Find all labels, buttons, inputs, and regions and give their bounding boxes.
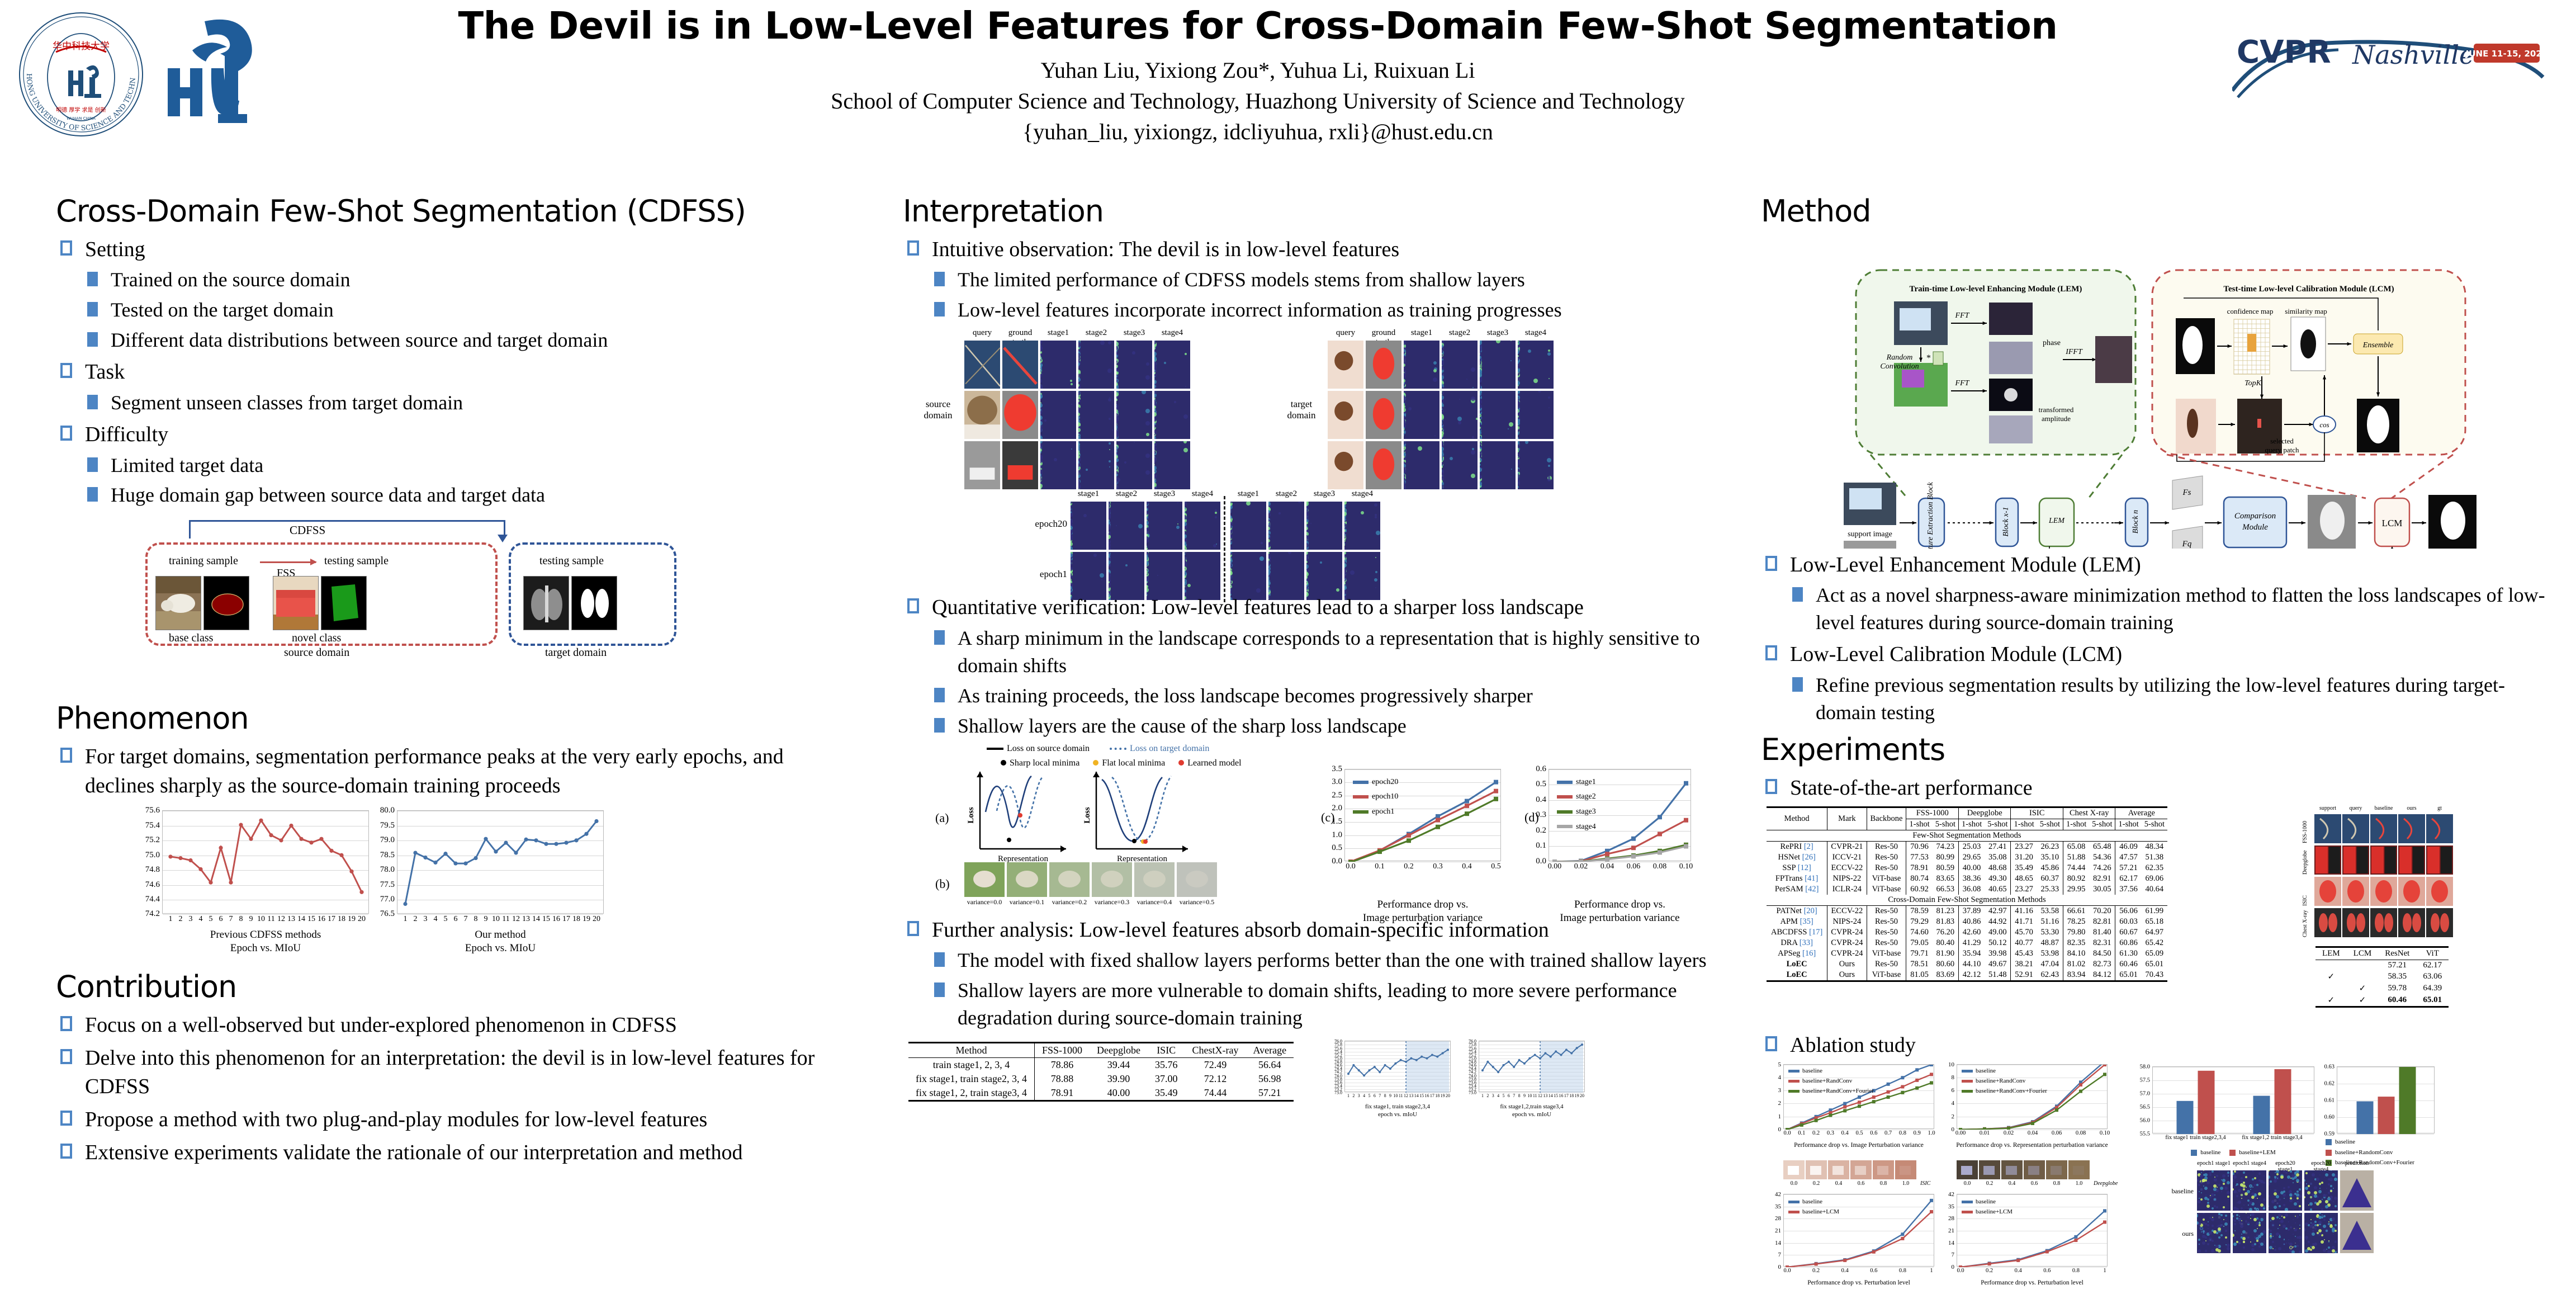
feature-map-column-label: stage1 <box>1040 328 1076 338</box>
y-axis-tick-label: 75.0 <box>145 851 160 860</box>
x-axis-tick-label: 12 <box>277 915 285 924</box>
table-column-header: 1-shot <box>2115 819 2142 830</box>
y-axis-tick-label: 14 <box>1948 1239 1954 1246</box>
legend-entry: baseline+RandConv+Fourier <box>1962 1086 2047 1096</box>
qualitative-row-label: ISIC <box>2302 877 2308 906</box>
y-axis-tick-label: 0 <box>1778 1126 1782 1133</box>
chart-caption: Our methodEpoch vs. MIoU <box>397 928 604 955</box>
legend-label: baseline+RandConv+Fourier <box>1976 1088 2047 1094</box>
interpretation-bullets-1: Intuitive observation: The devil is in l… <box>906 235 1716 324</box>
square-bullet-icon <box>907 598 919 613</box>
x-axis-tick-label: 13 <box>1543 1093 1547 1098</box>
legend-label: baseline+RandConv <box>1976 1078 2025 1084</box>
y-axis-tick-label: 56.5 <box>2140 1104 2150 1110</box>
ensemble-label: Ensemble <box>2362 341 2393 349</box>
table-cell-value: 23.27 <box>2011 884 2037 895</box>
y-axis-tick-label: 3.5 <box>1332 764 1342 774</box>
series-line <box>1479 1041 1585 1093</box>
table-cell-mark: NIPS-22 <box>1827 873 1867 884</box>
plot-area: 0.00.51.01.52.02.53.03.50.00.10.20.30.40… <box>1344 769 1501 861</box>
cdfss-bullet-list: Setting Trained on the source domain Tes… <box>59 235 850 509</box>
x-axis-tick-label: 0.4 <box>1841 1268 1849 1274</box>
y-axis-tick-label: 0.3 <box>1536 810 1546 820</box>
feature-map-stage1 <box>1404 391 1439 439</box>
plot-area: 0714212835420.00.20.40.60.81baselinebase… <box>1783 1194 1934 1267</box>
feature-map-stage3 <box>1480 341 1516 389</box>
x-axis-tick-label: 12 <box>512 915 520 924</box>
table-cell-value: 61.99 <box>2142 906 2167 917</box>
block-n-label: Block n <box>2132 510 2140 533</box>
y-axis-tick-label: 0.62 <box>2324 1080 2334 1087</box>
affiliation-line: School of Computer Science and Technolog… <box>425 87 2091 115</box>
feature-map-column-label: stage1 <box>1230 489 1266 499</box>
feature-map-stage2 <box>1078 441 1114 489</box>
lcm-panel-title: Test-time Low-level Calibration Module (… <box>2223 285 2394 294</box>
legend-label: stage1 <box>1576 778 1596 786</box>
cdfss-arrow-icon <box>498 535 508 542</box>
chart-previous-cdfss: 74.274.474.674.875.075.275.475.612345678… <box>162 810 369 955</box>
legend-label: baseline+RandomConv <box>2335 1149 2393 1156</box>
table-column-header: Method <box>1767 807 1827 830</box>
bullet-label: Further analysis: Low-level features abs… <box>932 918 1549 942</box>
table-cell: 40.00 <box>1090 1086 1148 1101</box>
table-row: LoECOursViT-base81.0583.6942.1251.4852.9… <box>1767 970 2167 981</box>
feature-map-column-label: query <box>964 328 1000 338</box>
list-item: A sharp minimum in the landscape corresp… <box>932 625 1716 679</box>
base-class-label: base class <box>169 632 213 645</box>
chart-our-method: 76.577.077.578.078.579.079.580.012345678… <box>397 810 604 955</box>
lcm-block-label: LCM <box>2382 518 2403 528</box>
x-axis-tick-label: 0.06 <box>2052 1130 2062 1136</box>
table-cell-backbone: ViT-base <box>1867 884 1906 895</box>
y-axis-tick-label: 5 <box>1778 1061 1782 1068</box>
table-cell-value: 40.00 <box>1958 863 1985 873</box>
list-item: Refine previous segmentation results by … <box>1790 672 2555 726</box>
qualitative-result-image <box>2398 877 2425 906</box>
filled-square-bullet-icon <box>934 630 945 645</box>
y-axis-tick-label: 80.0 <box>380 806 395 816</box>
y-axis-tick-label: 56.0 <box>2140 1117 2150 1123</box>
x-axis-tick-label: 0.6 <box>1870 1268 1877 1274</box>
chart-caption-line: Previous CDFSS methods <box>162 928 369 942</box>
legend-marker-icon <box>1353 810 1368 814</box>
y-axis-tick-label: 74.8 <box>145 865 160 875</box>
filled-square-bullet-icon <box>934 302 945 317</box>
x-axis-tick-label: 2 <box>179 915 183 924</box>
perturbed-image-2 <box>1049 862 1090 897</box>
feature-map-stage2 <box>1078 341 1114 389</box>
qualitative-column-label: query <box>2342 805 2369 811</box>
y-axis-tick-label: 35 <box>1948 1203 1954 1210</box>
bullet-label: Setting <box>85 238 145 261</box>
x-axis-tick-label: 0.4 <box>1841 1130 1849 1136</box>
phenomenon-bullet-list: For target domains, segmentation perform… <box>59 743 850 800</box>
table-cell-value: 65.48 <box>2089 842 2115 853</box>
table-cell-method: PATNet [20] <box>1767 906 1827 917</box>
feature-map-stage2 <box>1442 441 1478 489</box>
table-cell-value: 81.90 <box>1933 948 1959 959</box>
plot-area: 73.073.273.473.673.874.074.274.474.674.8… <box>1344 1041 1451 1092</box>
table-cell-value: 82.35 <box>2063 938 2089 948</box>
table-cell-value: 60.46 <box>2115 959 2142 970</box>
table-cell-vit: 65.01 <box>2416 994 2449 1007</box>
x-axis-tick-label: 7 <box>464 915 468 924</box>
list-item: For target domains, segmentation perform… <box>59 743 850 800</box>
table-cell: 78.88 <box>1034 1072 1090 1086</box>
sota-results-table: MethodMarkBackboneFSS-1000DeepglobeISICC… <box>1767 806 2167 982</box>
table-cell-mark: CVPR-24 <box>1827 938 1867 948</box>
ablation-feature-map <box>2340 1170 2374 1211</box>
table-cell-method: LoEC <box>1767 959 1827 970</box>
filled-square-bullet-icon <box>87 272 98 286</box>
legend-marker-icon <box>1557 781 1573 784</box>
perturbation-level-label: 0.4 <box>1828 1180 1849 1187</box>
table-row: ✓59.7864.39 <box>2315 982 2449 994</box>
legend-marker-icon <box>1788 1211 1800 1213</box>
table-cell-value: 82.91 <box>2089 873 2115 884</box>
qualitative-result-image <box>2370 814 2397 843</box>
ground-truth-image <box>1002 341 1038 389</box>
bars <box>2337 1067 2435 1134</box>
y-axis-tick-label: 76.0 <box>1334 1039 1342 1044</box>
table-cell-value: 47.57 <box>2115 852 2142 863</box>
testing-sample-source-label: testing sample <box>324 555 389 568</box>
filled-square-bullet-icon <box>934 952 945 967</box>
feature-map-stage3 <box>1116 391 1152 439</box>
qualitative-result-image <box>2370 845 2397 875</box>
feature-map-column-label: stage3 <box>1306 489 1342 499</box>
list-item: Focus on a well-observed but under-explo… <box>59 1011 850 1040</box>
list-item: Task Segment unseen classes from target … <box>59 358 850 417</box>
table-cell-value: 39.98 <box>1985 948 2011 959</box>
table-cell-value: 60.67 <box>2115 927 2142 938</box>
table-cell-method: RePRI [2] <box>1767 842 1827 853</box>
bullet-label: Limited target data <box>111 454 263 476</box>
legend-label: baseline+LCM <box>1976 1208 2012 1215</box>
table-cell: 78.91 <box>1034 1086 1090 1101</box>
feature-map-visualization: queryground truthstage1stage2stage3stage… <box>903 328 1716 591</box>
perturbed-sample-image <box>1957 1160 1978 1179</box>
table-cell-value: 51.48 <box>1985 970 2011 981</box>
table-cell-value: 62.35 <box>2142 863 2167 873</box>
x-axis-tick-label: 17 <box>1430 1093 1434 1098</box>
legend-marker-icon <box>1962 1070 1973 1073</box>
list-item: Intuitive observation: The devil is in l… <box>906 235 1716 324</box>
table-cell-value: 66.53 <box>1933 884 1959 895</box>
ifft-label: IFFT <box>2065 348 2083 356</box>
x-axis-tick-label: 14 <box>297 915 305 924</box>
chart-lem-bar: 55.556.056.557.057.558.0fix stage1 train… <box>2152 1066 2314 1133</box>
square-bullet-icon <box>60 748 72 763</box>
chart-caption: fix stage1, train stage2,3,4epoch vs. mI… <box>1344 1103 1451 1119</box>
filled-square-bullet-icon <box>934 982 945 997</box>
perturbed-image-4 <box>1134 862 1175 897</box>
legend-marker-icon <box>1557 810 1573 814</box>
x-axis-tick-label: 16 <box>1425 1093 1429 1098</box>
table-cell-value: 30.05 <box>2089 884 2115 895</box>
y-axis-tick-label: 0.60 <box>2324 1114 2334 1120</box>
y-axis-tick-label: 57.0 <box>2140 1090 2150 1097</box>
x-axis-tick-label: 14 <box>1414 1093 1419 1098</box>
gridline <box>1345 862 1500 862</box>
gridline <box>2337 1134 2434 1135</box>
table-cell-value: 40.77 <box>2011 938 2037 948</box>
list-item: Further analysis: Low-level features abs… <box>906 916 1716 1032</box>
table-cell-value: 40.65 <box>1985 884 2011 895</box>
table-cell-lem-check: ✓ <box>2315 971 2347 982</box>
table-cell-value: 25.33 <box>2037 884 2063 895</box>
chart-legend: baselinebaseline+LCM <box>1788 1197 1839 1217</box>
table-cell-value: 65.01 <box>2115 970 2142 981</box>
legend-label: baseline+RandConv+Fourier <box>1802 1088 1874 1094</box>
table-cell-value: 70.96 <box>1906 842 1933 853</box>
y-axis-tick-label: 0.5 <box>1536 780 1546 789</box>
y-axis-tick-label: 4 <box>1952 1100 1955 1107</box>
table-cell-value: 84.10 <box>2063 948 2089 959</box>
table-cell: 56.98 <box>1246 1072 1294 1086</box>
x-axis-tick-label: 11 <box>502 915 509 924</box>
table-cell: fix stage1, 2, train stage3, 4 <box>908 1086 1034 1101</box>
table-cell-method: FPTrans [41] <box>1767 873 1827 884</box>
y-axis-tick-label: 76.5 <box>380 910 395 919</box>
table-cell-value: 56.06 <box>2115 906 2142 917</box>
ablation-study-area: 0123450.00.10.20.30.40.50.60.70.80.91.0b… <box>1761 1064 2555 1299</box>
list-item: The model with fixed shallow layers perf… <box>932 947 1716 974</box>
y-axis-tick-label: 0.0 <box>1332 857 1342 866</box>
table-cell-value: 35.08 <box>1985 852 2011 863</box>
reference-number: [35] <box>1800 917 1813 926</box>
list-item: As training proceeds, the loss landscape… <box>932 682 1716 710</box>
plot-area: 0123450.00.10.20.30.40.50.60.70.80.91.0b… <box>1783 1064 1934 1129</box>
perturbed-sample-image <box>1783 1160 1805 1179</box>
square-bullet-icon <box>60 1144 72 1159</box>
filled-square-bullet-icon <box>1792 677 1803 692</box>
table-cell-value: 60.92 <box>1906 884 1933 895</box>
qualitative-row-label: FSS-1000 <box>2302 814 2308 843</box>
feature-map-stage3 <box>1116 341 1152 389</box>
perturbation-variance-label: variance=0.4 <box>1134 898 1175 906</box>
legend-marker-icon <box>1557 825 1573 828</box>
list-item: Delve into this phenomenon for an interp… <box>59 1044 850 1102</box>
y-axis-tick-label: 3 <box>1778 1087 1782 1094</box>
table-column-header: Mark <box>1827 807 1867 830</box>
legend-entry: stage4 <box>1557 820 1596 835</box>
table-cell-value: 51.38 <box>2142 852 2167 863</box>
plot-area: 73.073.273.473.673.874.074.274.474.674.8… <box>1479 1041 1585 1092</box>
qualitative-result-image <box>2398 845 2425 875</box>
filled-square-bullet-icon <box>87 302 98 317</box>
bars <box>2153 1067 2315 1134</box>
table-cell-method: ABCDFSS [17] <box>1767 927 1827 938</box>
table-cell-value: 48.68 <box>1985 863 2011 873</box>
x-axis-tick-label: 7 <box>229 915 233 924</box>
y-axis-tick-label: 78.5 <box>380 851 395 860</box>
x-axis-tick-label: 0.8 <box>1899 1130 1906 1136</box>
table-cell-value: 60.03 <box>2115 917 2142 927</box>
square-bullet-icon <box>1765 779 1777 794</box>
table-cell-value: 48.87 <box>2037 938 2063 948</box>
y-axis-tick-label: 4 <box>1778 1074 1782 1081</box>
qualitative-result-image <box>2426 814 2453 843</box>
list-item: Limited target data <box>85 452 850 479</box>
y-axis-tick-label: 0.4 <box>1536 795 1546 805</box>
table-column-header: 1-shot <box>2063 819 2089 830</box>
gridline <box>1549 862 1690 862</box>
list-item: Low-Level Calibration Module (LCM) Refin… <box>1764 640 2555 726</box>
square-bullet-icon <box>1765 645 1777 660</box>
flat-minima-dot-icon <box>1093 760 1098 766</box>
table-group-header: Deepglobe <box>1958 807 2011 819</box>
ablation-feature-map <box>2340 1213 2374 1253</box>
bullet-label: Segment unseen classes from target domai… <box>111 391 463 414</box>
square-bullet-icon <box>60 1016 72 1031</box>
ablation-feature-map <box>2233 1213 2266 1253</box>
y-axis-tick-label: 21 <box>1775 1227 1781 1234</box>
x-axis-tick-label: 0.9 <box>1914 1130 1921 1136</box>
arrow-icon <box>2114 521 2123 525</box>
table-row: PATNet [20]ECCV-22Res-5078.5981.2337.894… <box>1767 906 2167 917</box>
table-cell-value: 44.10 <box>1958 959 1985 970</box>
feature-map-stage2 <box>1078 391 1114 439</box>
stage-fix-results: MethodFSS-1000DeepglobeISICChestX-rayAve… <box>903 1037 1716 1121</box>
table-row: DRA [33]CVPR-24Res-5079.0580.4041.2950.1… <box>1767 938 2167 948</box>
table-cell-value: 27.41 <box>1985 842 2011 853</box>
x-axis-tick-label: 4 <box>1363 1093 1365 1098</box>
table-cell-backbone: Res-50 <box>1867 938 1906 948</box>
legend-entry: baseline+LCM <box>1788 1207 1839 1217</box>
plot-area: 02468100.000.010.020.040.060.080.10basel… <box>1957 1064 2108 1129</box>
cvpr-text: CVPR <box>2237 34 2331 70</box>
table-cell-value: 51.88 <box>2063 852 2089 863</box>
table-cell-value: 53.58 <box>2037 906 2063 917</box>
table-cell-method: PerSAM [42] <box>1767 884 1827 895</box>
chart-caption: Performance drop vs. Image Perturbation … <box>1775 1141 1942 1149</box>
table-cell-value: 81.23 <box>1933 906 1959 917</box>
series-line <box>397 811 604 914</box>
table-cell-value: 44.92 <box>1985 917 2011 927</box>
x-axis-tick-label: 5 <box>1502 1093 1504 1098</box>
table-cell-value: 36.08 <box>1958 884 1985 895</box>
query-patch-label: query patch <box>2265 446 2299 454</box>
table-cell-value: 70.20 <box>2089 906 2115 917</box>
x-axis-tick-label: 1 <box>169 915 173 924</box>
y-axis-tick-label: 79.0 <box>380 835 395 845</box>
list-item: Trained on the source domain <box>85 266 850 294</box>
table-column-header: ResNet <box>2378 947 2416 960</box>
table-cell-mark: ECCV-22 <box>1827 863 1867 873</box>
table-cell-mark: NIPS-24 <box>1827 917 1867 927</box>
table-cell-value: 49.00 <box>1985 927 2011 938</box>
x-axis-tick-label: 0.08 <box>1653 862 1667 871</box>
ground-truth-image <box>1002 441 1038 489</box>
feature-map-column-label: stage1 <box>1071 489 1106 499</box>
table-column-header: 5-shot <box>2142 819 2167 830</box>
y-axis-tick-label: 58.0 <box>2140 1064 2150 1070</box>
table-cell-value: 79.29 <box>1906 917 1933 927</box>
amplitude-label: amplitude <box>2042 414 2071 423</box>
section-title-cdfss: Cross-Domain Few-Shot Segmentation (CDFS… <box>56 196 850 228</box>
dataset-name-label: Deepglobe <box>2094 1180 2118 1187</box>
table-cell-value: 84.12 <box>2089 970 2115 981</box>
legend-label: baseline <box>1976 1198 1996 1205</box>
list-item: State-of-the-art performance <box>1764 774 2555 803</box>
legend-swatch-icon <box>2326 1139 2332 1145</box>
x-axis-tick-label: 8 <box>239 915 243 924</box>
fft-label: FFT <box>1955 311 1970 320</box>
perturbation-level-label: 0.2 <box>1979 1180 2000 1187</box>
x-axis-tick-label: 15 <box>542 915 550 924</box>
table-cell-value: 70.43 <box>2142 970 2167 981</box>
ablation-feature-map <box>2233 1170 2266 1211</box>
reference-number: [20] <box>1804 906 1817 915</box>
legend-marker-icon <box>1962 1211 1973 1213</box>
table-cell-value: 76.20 <box>1933 927 1959 938</box>
feature-map-stage3 <box>1116 441 1152 489</box>
x-axis-tick-label: 1 <box>1481 1093 1484 1098</box>
section-title-contribution: Contribution <box>56 971 850 1003</box>
list-item: Shallow layers are the cause of the shar… <box>932 712 1716 740</box>
filled-square-bullet-icon <box>87 487 98 502</box>
x-axis-tick-label: 0.2 <box>1986 1268 1993 1274</box>
chart-caption-line: Epoch vs. MIoU <box>397 942 604 955</box>
table-section-header: Cross-Domain Few-Shot Segmentation Metho… <box>1767 895 2167 906</box>
feature-map-column-label: stage4 <box>1185 489 1220 499</box>
y-axis-tick-label: 2 <box>1778 1100 1782 1107</box>
y-axis-tick-label: 2.0 <box>1332 804 1342 814</box>
x-axis-tick-label: 0.06 <box>1627 862 1641 871</box>
perturbed-sample-image <box>1895 1160 1916 1179</box>
bullet-label: Ablation study <box>1790 1033 1916 1057</box>
confidence-map-label: confidence map <box>2227 307 2274 315</box>
bullet-label: Huge domain gap between source data and … <box>111 484 545 506</box>
bullet-label: The model with fixed shallow layers perf… <box>958 949 1707 971</box>
table-group-header: Chest X-ray <box>2063 807 2115 819</box>
square-bullet-icon <box>1765 1036 1777 1051</box>
y-axis-tick-label: 77.0 <box>380 895 395 904</box>
target-domain-label: target domain <box>545 646 607 659</box>
qualitative-result-image <box>2370 908 2397 937</box>
table-cell-value: 57.21 <box>2115 863 2142 873</box>
table-cell-value: 40.64 <box>2142 884 2167 895</box>
x-axis-tick-label: 3 <box>424 915 428 924</box>
y-axis-tick-label: 0.0 <box>1536 857 1546 866</box>
table-cell-value: 82.73 <box>2089 959 2115 970</box>
table-cell-value: 26.23 <box>2037 842 2063 853</box>
y-axis-tick-label: 2 <box>1952 1113 1955 1119</box>
bullet-label: As training proceeds, the loss landscape… <box>958 684 1533 707</box>
table-cell-value: 45.86 <box>2037 863 2063 873</box>
table-row: ✓58.3563.06 <box>2315 971 2449 982</box>
arrow-icon <box>2358 521 2373 525</box>
feature-map-epoch-label: epoch20 <box>1011 518 1067 530</box>
legend-entry: epoch20 <box>1353 775 1398 790</box>
table-cell-backbone: Res-50 <box>1867 959 1906 970</box>
table-cell-value: 81.83 <box>1933 917 1959 927</box>
reference-number: [12] <box>1798 863 1811 872</box>
x-axis-tick-label: 1.0 <box>1928 1130 1935 1136</box>
legend-dotted-line-icon <box>1110 748 1126 750</box>
novel-class-label: novel class <box>292 632 341 645</box>
perturbation-level-label: 0.6 <box>2024 1180 2045 1187</box>
y-axis-tick-label: 0 <box>1778 1264 1782 1270</box>
random-convolution-label: Random <box>1886 353 1913 362</box>
square-bullet-icon <box>907 240 919 256</box>
table-cell-value: 29.95 <box>2063 884 2089 895</box>
y-axis-tick-label: 42 <box>1775 1191 1781 1198</box>
x-axis-tick-label: 13 <box>522 915 530 924</box>
table-column-header: Backbone <box>1867 807 1906 830</box>
x-axis-tick-label: 0.0 <box>1783 1268 1791 1274</box>
